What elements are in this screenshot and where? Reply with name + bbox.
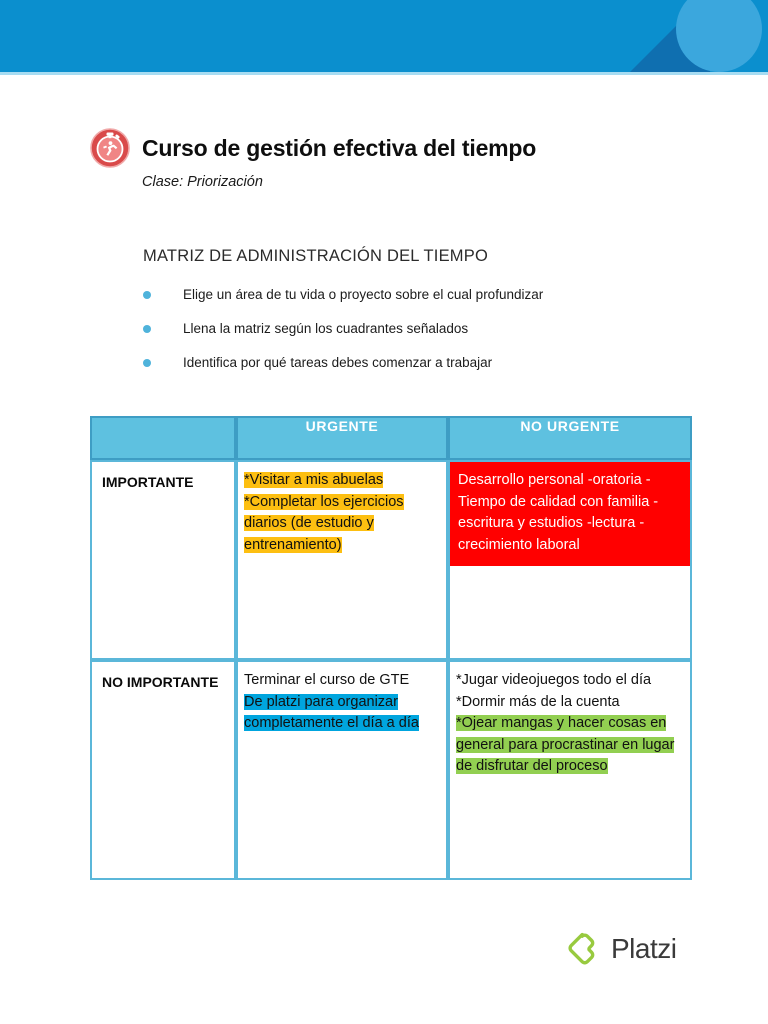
header-no-urgente-label: NO URGENTE (520, 418, 619, 434)
row-label-no-importante: NO IMPORTANTE (92, 662, 234, 692)
cell-no-importante-no-urgente: *Jugar videojuegos todo el día *Dormir m… (448, 660, 692, 880)
table-row-no-importante: NO IMPORTANTE Terminar el curso de GTE D… (90, 660, 692, 880)
list-item-label: Identifica por qué tareas debes comenzar… (183, 354, 492, 372)
row-label-cell-no-importante: NO IMPORTANTE (90, 660, 236, 880)
list-item: Llena la matriz según los cuadrantes señ… (143, 320, 663, 354)
header-cell-urgente: URGENTE (236, 416, 448, 460)
page-title: Curso de gestión efectiva del tiempo (142, 135, 536, 162)
stopwatch-runner-icon (90, 128, 130, 168)
platzi-wordmark: Platzi (611, 933, 676, 965)
platzi-logo: Platzi (568, 932, 676, 966)
header-block: Curso de gestión efectiva del tiempo Cla… (90, 128, 690, 190)
row-label-cell-importante: IMPORTANTE (90, 460, 236, 660)
header-urgente-label: URGENTE (306, 418, 379, 434)
instructions-list: Elige un área de tu vida o proyecto sobr… (143, 286, 663, 388)
plain-text-line: *Jugar videojuegos todo el día *Dormir m… (456, 672, 651, 710)
header-cell-blank (90, 416, 236, 460)
title-row: Curso de gestión efectiva del tiempo (90, 128, 690, 168)
bullet-dot-icon (143, 325, 151, 333)
highlighted-text-green: *Ojear mangas y hacer cosas en general p… (456, 715, 674, 774)
plain-text-line: Terminar el curso de GTE (244, 672, 409, 688)
cell-importante-urgente: *Visitar a mis abuelas *Completar los ej… (236, 460, 448, 660)
cell-importante-no-urgente: Desarrollo personal -oratoria -Tiempo de… (448, 460, 692, 660)
top-banner (0, 0, 768, 72)
list-item-label: Elige un área de tu vida o proyecto sobr… (183, 286, 543, 304)
cell-importante-no-urgente-body: Desarrollo personal -oratoria -Tiempo de… (450, 462, 690, 566)
platzi-logo-mark-icon (568, 932, 602, 966)
table-row-importante: IMPORTANTE *Visitar a mis abuelas *Compl… (90, 460, 692, 660)
row-label-importante: IMPORTANTE (92, 462, 234, 492)
list-item-label: Llena la matriz según los cuadrantes señ… (183, 320, 468, 338)
highlighted-text-orange: *Visitar a mis abuelas *Completar los ej… (244, 472, 404, 553)
cell-no-importante-no-urgente-body: *Jugar videojuegos todo el día *Dormir m… (450, 662, 690, 778)
time-management-matrix: URGENTE NO URGENTE IMPORTANTE *Visitar a… (90, 416, 692, 880)
class-subtitle: Clase: Priorización (142, 174, 690, 190)
bullet-dot-icon (143, 291, 151, 299)
cell-no-importante-urgente-body: Terminar el curso de GTE De platzi para … (238, 662, 446, 735)
highlighted-text-blue: De platzi para organizar completamente e… (244, 694, 419, 732)
table-header-row: URGENTE NO URGENTE (90, 416, 692, 460)
cell-importante-urgente-body: *Visitar a mis abuelas *Completar los ej… (238, 462, 446, 556)
header-cell-no-urgente: NO URGENTE (448, 416, 692, 460)
banner-underline (0, 72, 768, 75)
list-item: Identifica por qué tareas debes comenzar… (143, 354, 663, 388)
section-heading: MATRIZ DE ADMINISTRACIÓN DEL TIEMPO (143, 247, 488, 266)
cell-no-importante-urgente: Terminar el curso de GTE De platzi para … (236, 660, 448, 880)
list-item: Elige un área de tu vida o proyecto sobr… (143, 286, 663, 320)
bullet-dot-icon (143, 359, 151, 367)
